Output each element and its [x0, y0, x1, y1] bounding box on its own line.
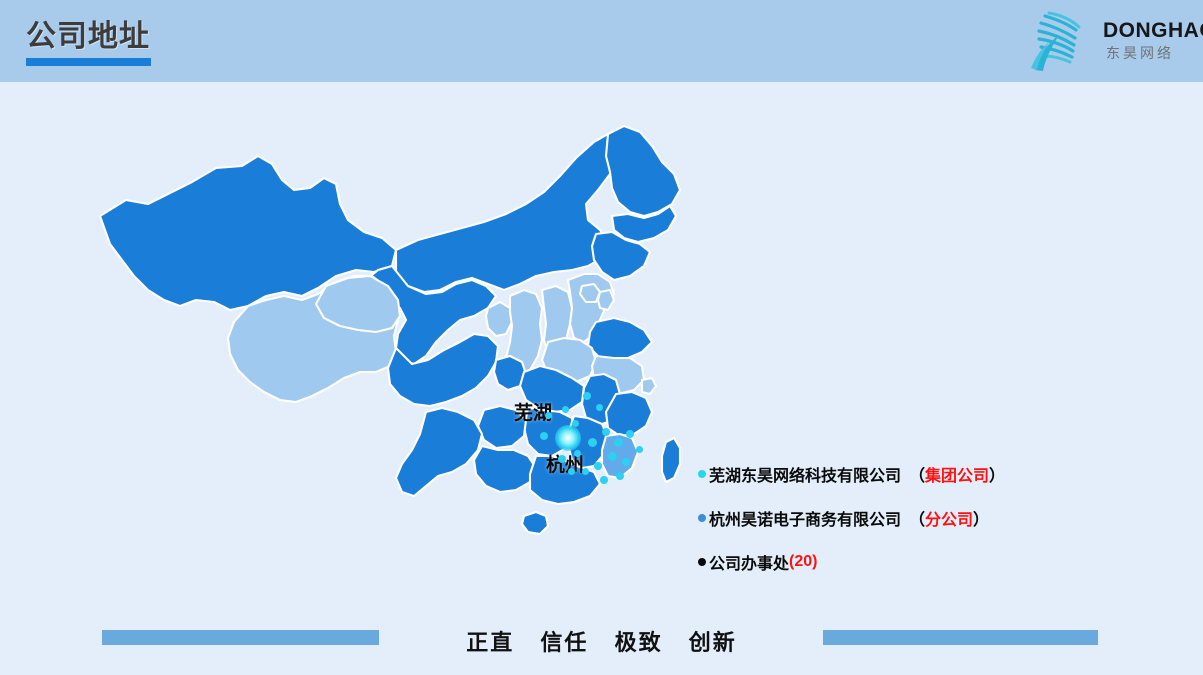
legend-close-paren: ）	[973, 506, 989, 530]
header-band: 公司地址 DONGHAO 东昊网络	[0, 0, 1203, 82]
china-map: 芜湖 杭州	[96, 120, 696, 620]
legend-item-offices: 公司办事处 (20)	[698, 550, 1128, 574]
legend-bullet-cyan	[698, 470, 706, 478]
province-beijing	[580, 284, 600, 302]
office-dot[interactable]	[596, 404, 603, 411]
legend-company-name: 杭州昊诺电子商务有限公司	[709, 506, 901, 530]
legend-bullet-black	[698, 558, 706, 566]
province-taiwan	[662, 438, 680, 482]
legend-item-group-company: 芜湖东昊网络科技有限公司 （ 集团公司 ）	[698, 462, 1128, 486]
china-map-svg	[96, 120, 696, 620]
province-hainan	[522, 512, 548, 534]
province-tianjin	[598, 290, 614, 310]
office-dot[interactable]	[540, 432, 548, 440]
province-heilongjiang	[606, 126, 680, 216]
logo-english-name: DONGHAO	[1103, 20, 1195, 42]
province-shanghai	[642, 378, 656, 394]
logo-text: DONGHAO 东昊网络	[1103, 20, 1195, 62]
slogan-word: 极致	[615, 630, 663, 655]
slogan-word: 正直	[466, 630, 514, 655]
title-underline	[26, 58, 151, 66]
company-logo: DONGHAO 东昊网络	[1023, 6, 1195, 76]
province-inner-mongolia	[396, 134, 620, 292]
office-dot[interactable]	[636, 446, 643, 453]
page-title: 公司地址	[26, 20, 150, 54]
office-dot[interactable]	[545, 412, 552, 419]
legend-bullet-blue	[698, 514, 706, 522]
legend-tag: 集团公司	[925, 462, 989, 486]
office-dot[interactable]	[602, 428, 610, 436]
legend-tag: 分公司	[925, 506, 973, 530]
office-dot[interactable]	[614, 438, 623, 447]
donghao-feather-logo-icon	[1029, 8, 1103, 74]
slogan-word: 信任	[540, 630, 588, 655]
office-dot[interactable]	[562, 406, 569, 413]
legend-close-paren: ）	[989, 462, 1005, 486]
logo-chinese-name: 东昊网络	[1106, 44, 1195, 62]
province-ningxia	[486, 302, 512, 336]
office-dot[interactable]	[616, 472, 624, 480]
legend-open-paren: （	[909, 462, 925, 486]
office-dot[interactable]	[588, 438, 597, 447]
office-dot[interactable]	[574, 450, 581, 457]
legend-open-paren: （	[909, 506, 925, 530]
office-dot[interactable]	[558, 455, 566, 463]
legend-company-name: 芜湖东昊网络科技有限公司	[709, 462, 901, 486]
province-yunnan	[396, 408, 482, 496]
office-dot[interactable]	[600, 476, 608, 484]
province-shandong	[588, 318, 652, 360]
office-dot[interactable]	[608, 452, 617, 461]
headquarters-marker-wuhu[interactable]	[555, 425, 581, 451]
office-dot[interactable]	[582, 468, 589, 475]
footer-slogan: 正直 信任 极致 创新	[0, 625, 1203, 657]
office-dot[interactable]	[568, 468, 575, 475]
office-dot[interactable]	[572, 420, 579, 427]
office-dot[interactable]	[622, 458, 630, 466]
slogan-word: 创新	[689, 630, 737, 655]
province-guangxi	[474, 446, 536, 492]
legend-tag: (20)	[789, 553, 817, 571]
office-dot[interactable]	[594, 462, 602, 470]
office-dot[interactable]	[626, 430, 634, 438]
legend: 芜湖东昊网络科技有限公司 （ 集团公司 ） 杭州昊诺电子商务有限公司 （ 分公司…	[698, 462, 1128, 594]
legend-item-branch-company: 杭州昊诺电子商务有限公司 （ 分公司 ）	[698, 506, 1128, 530]
office-dot[interactable]	[583, 392, 591, 400]
legend-company-name: 公司办事处	[709, 550, 789, 574]
